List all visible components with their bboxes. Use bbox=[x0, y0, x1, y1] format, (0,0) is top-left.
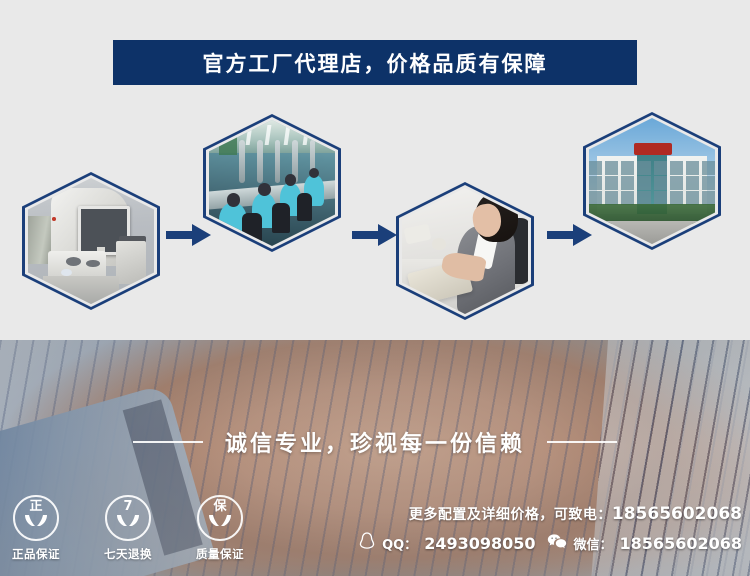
qq-penguin-icon bbox=[359, 532, 375, 554]
trust-badge-seven-day-return: 7 七天退换 bbox=[98, 495, 158, 562]
qq-number: 2493098050 bbox=[424, 534, 535, 553]
header-banner-text: 官方工厂代理店，价格品质有保障 bbox=[203, 48, 548, 78]
hands-holding-icon bbox=[115, 514, 141, 533]
badge-label: 正品保证 bbox=[6, 546, 66, 562]
wechat-label: 微信： bbox=[574, 534, 613, 553]
tagline-text: 诚信专业，珍视每一份信赖 bbox=[225, 426, 525, 458]
contact-block: 更多配置及详细价格，可致电：18565602068 QQ： 2493098050 bbox=[359, 504, 742, 554]
top-section: 官方工厂代理店，价格品质有保障 bbox=[0, 0, 750, 340]
trust-badge-authentic: 正 正品保证 bbox=[6, 495, 66, 562]
badge-label: 七天退换 bbox=[98, 546, 158, 562]
badge-label: 质量保证 bbox=[190, 546, 250, 562]
tagline-rule-right bbox=[547, 441, 617, 443]
badge-circle: 7 bbox=[105, 495, 151, 541]
hands-holding-icon bbox=[23, 514, 49, 533]
process-step-production bbox=[203, 114, 341, 252]
wechat-icon bbox=[547, 533, 567, 554]
tagline-row: 诚信专业，珍视每一份信赖 bbox=[0, 426, 750, 458]
process-step-service bbox=[396, 182, 534, 320]
contact-phone-line: 更多配置及详细价格，可致电：18565602068 bbox=[359, 504, 742, 524]
arrow-right-icon-2 bbox=[352, 222, 398, 248]
process-step-equipment bbox=[22, 172, 160, 310]
contact-social-line: QQ： 2493098050 微信： 18565602068 bbox=[359, 532, 742, 554]
trust-badge-quality: 保 质量保证 bbox=[190, 495, 250, 562]
qq-label: QQ： bbox=[382, 534, 417, 553]
badge-glyph: 保 bbox=[199, 500, 241, 513]
contact-phone-number: 18565602068 bbox=[612, 504, 742, 524]
badge-glyph: 正 bbox=[15, 500, 57, 513]
badge-circle: 正 bbox=[13, 495, 59, 541]
badge-glyph: 7 bbox=[107, 500, 149, 513]
bottom-section: 诚信专业，珍视每一份信赖 正 正品保证 7 bbox=[0, 340, 750, 576]
header-banner: 官方工厂代理店，价格品质有保障 bbox=[113, 40, 637, 85]
tagline-rule-left bbox=[133, 441, 203, 443]
process-step-company bbox=[583, 112, 721, 250]
contact-phone-prefix: 更多配置及详细价格，可致电： bbox=[409, 507, 612, 523]
hands-holding-icon bbox=[207, 514, 233, 533]
badge-circle: 保 bbox=[197, 495, 243, 541]
trust-badges: 正 正品保证 7 bbox=[6, 495, 250, 562]
wechat-number: 18565602068 bbox=[620, 534, 742, 553]
promo-banner-page: 官方工厂代理店，价格品质有保障 bbox=[0, 0, 750, 576]
